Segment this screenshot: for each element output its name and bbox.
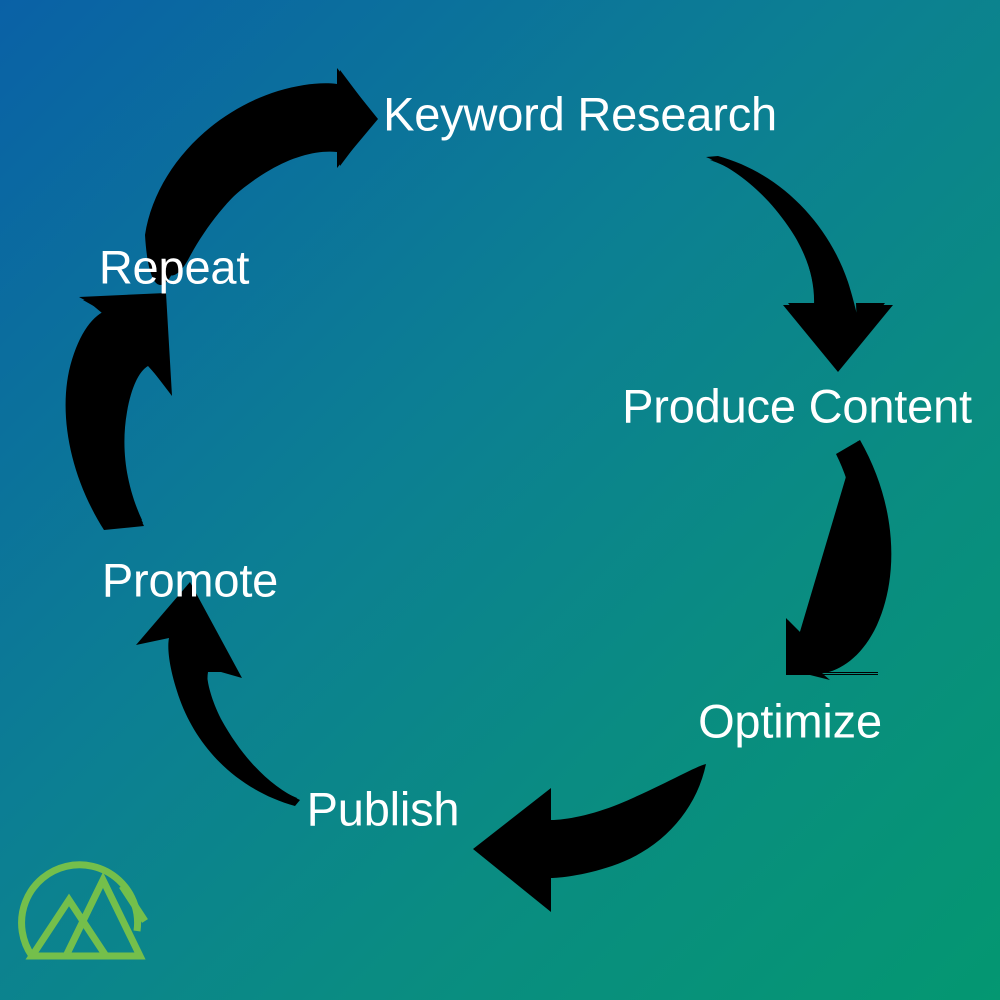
stage-label-publish: Publish [307,786,460,833]
stage-label-produce-content: Produce Content [622,383,972,430]
arrow-bodies-refined [66,68,893,912]
stage-label-promote: Promote [102,557,278,604]
cycle-diagram-canvas: Keyword Research Produce Content Optimiz… [0,0,1000,1000]
stage-label-optimize: Optimize [698,698,882,745]
stage-label-keyword-research: Keyword Research [383,91,777,138]
mountain-circle-logo [18,838,168,988]
stage-label-repeat: Repeat [99,244,249,291]
